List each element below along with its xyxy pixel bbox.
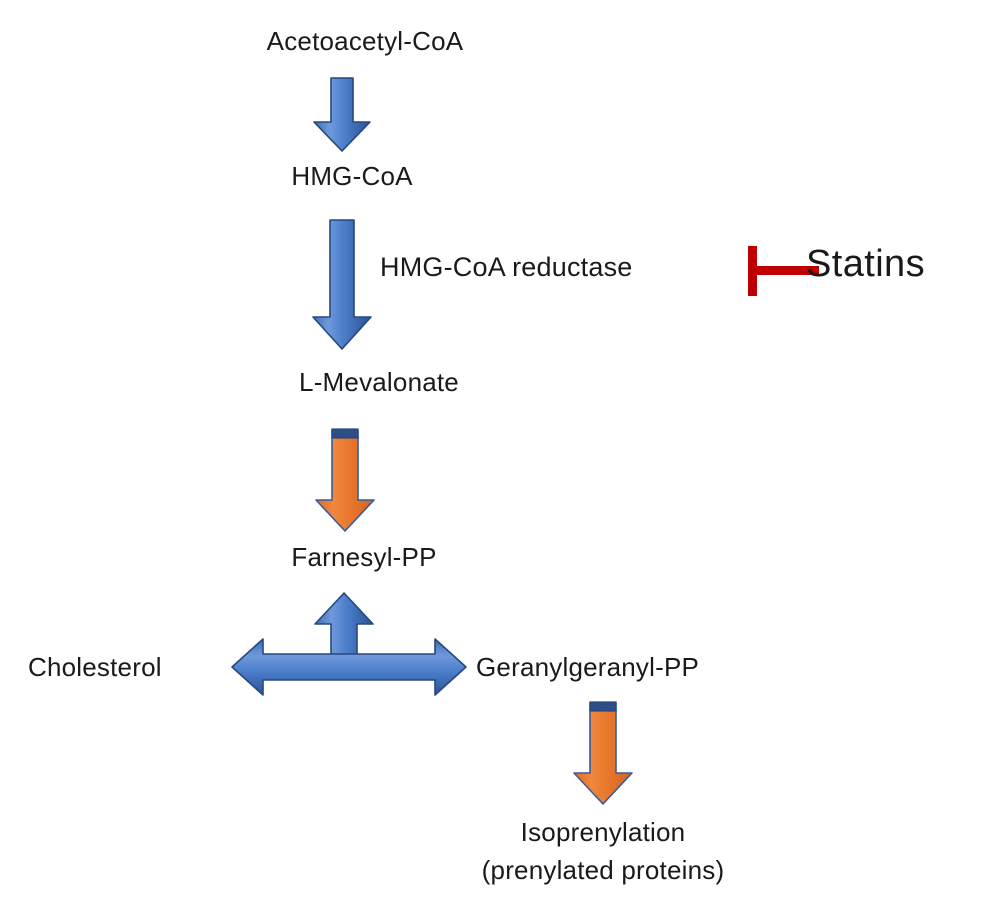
- pathway-diagram: Acetoacetyl-CoA HMG-CoA: [0, 0, 992, 904]
- node-label-farnesyl-pp: Farnesyl-PP: [291, 543, 436, 572]
- node-label-hmg-coa: HMG-CoA: [291, 162, 412, 191]
- arrow-hmgcoa-to-mevalonate: [308, 220, 376, 350]
- node-label-l-mevalonate: L-Mevalonate: [299, 368, 459, 397]
- node-label-cholesterol: Cholesterol: [28, 653, 162, 682]
- arrow-acetoacetyl-to-hmgcoa: [310, 78, 374, 152]
- enzyme-label-hmg-coa-reductase: HMG-CoA reductase: [380, 252, 633, 282]
- drug-label-statins: Statins: [806, 243, 925, 286]
- node-label-isoprenylation: Isoprenylation: [521, 818, 686, 847]
- arrow-mevalonate-to-farnesyl: [313, 428, 377, 533]
- arrow-cholesterol-geranylgeranyl-bidirectional: [230, 636, 468, 698]
- arrow-geranylgeranyl-to-isoprenylation: [571, 701, 635, 806]
- node-label-geranylgeranyl-pp: Geranylgeranyl-PP: [476, 653, 699, 682]
- node-label-prenylated-proteins: (prenylated proteins): [482, 856, 725, 885]
- node-label-acetoacetyl-coa: Acetoacetyl-CoA: [267, 27, 464, 56]
